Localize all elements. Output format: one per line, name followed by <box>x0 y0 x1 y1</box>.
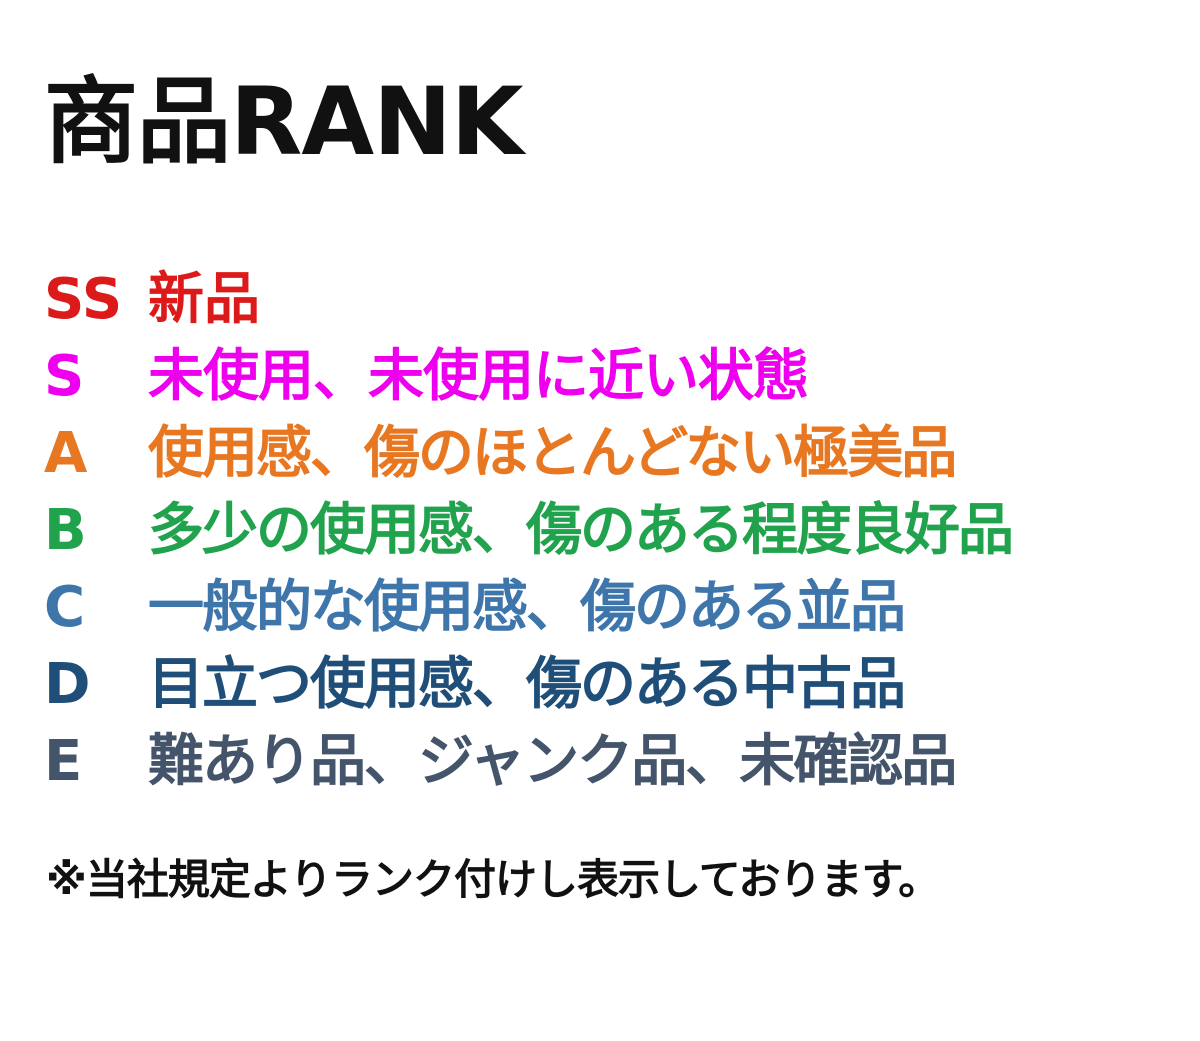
page-title: 商品RANK <box>44 74 523 173</box>
rank-row-s: S 未使用、未使用に近い状態 <box>44 349 1194 426</box>
rank-row-c: C 一般的な使用感、傷のある並品 <box>44 580 1194 657</box>
rank-description-a: 使用感、傷のほとんどない極美品 <box>148 426 955 482</box>
rank-row-ss: SS 新品 <box>44 272 1194 349</box>
rank-row-a: A 使用感、傷のほとんどない極美品 <box>44 426 1194 503</box>
rank-letter-e: E <box>44 734 148 790</box>
rank-row-e: E 難あり品、ジャンク品、未確認品 <box>44 734 1194 811</box>
rank-letter-d: D <box>44 657 148 713</box>
rank-row-b: B 多少の使用感、傷のある程度良好品 <box>44 503 1194 580</box>
rank-letter-c: C <box>44 580 148 636</box>
rank-letter-s: S <box>44 349 148 405</box>
product-rank-card: 商品RANK SS 新品 S 未使用、未使用に近い状態 A 使用感、傷のほとんど… <box>0 0 1200 1041</box>
rank-description-s: 未使用、未使用に近い状態 <box>148 349 808 405</box>
rank-letter-ss: SS <box>44 272 148 328</box>
rank-letter-a: A <box>44 426 148 482</box>
rank-letter-b: B <box>44 503 148 559</box>
rank-description-b: 多少の使用感、傷のある程度良好品 <box>148 503 1012 559</box>
rank-description-d: 目立つ使用感、傷のある中古品 <box>148 657 904 713</box>
rank-row-d: D 目立つ使用感、傷のある中古品 <box>44 657 1194 734</box>
rank-legend-list: SS 新品 S 未使用、未使用に近い状態 A 使用感、傷のほとんどない極美品 B… <box>44 272 1194 811</box>
disclaimer-note: ※当社規定よりランク付けし表示しております。 <box>46 856 939 904</box>
rank-description-e: 難あり品、ジャンク品、未確認品 <box>148 734 955 790</box>
rank-description-c: 一般的な使用感、傷のある並品 <box>148 580 904 636</box>
rank-description-ss: 新品 <box>148 272 260 328</box>
